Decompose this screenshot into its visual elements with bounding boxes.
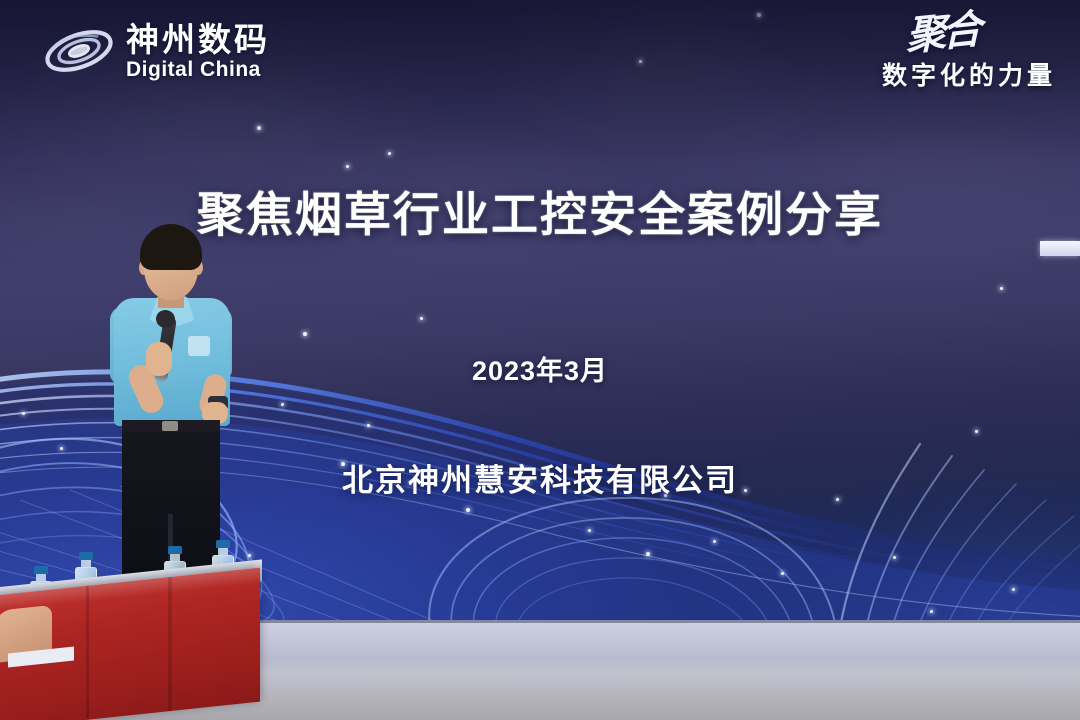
brand-logo: 神州数码 Digital China xyxy=(42,20,270,82)
sparkle-particle xyxy=(248,554,251,557)
photo-scene: 聚焦烟草行业工控安全案例分享 2023年3月 北京神州慧安科技有限公司 神州数码… xyxy=(0,0,1080,720)
sparkle-particle xyxy=(639,60,642,63)
sparkle-particle xyxy=(757,13,761,17)
brand-name-cn: 神州数码 xyxy=(126,23,270,56)
sparkle-particle xyxy=(466,508,470,512)
table-cloth-fold xyxy=(86,586,89,720)
sparkle-particle xyxy=(1000,287,1003,290)
sparkle-particle xyxy=(781,572,784,575)
presenter-hair xyxy=(140,224,202,270)
sparkle-particle xyxy=(281,403,284,406)
bottle-cap xyxy=(216,540,230,548)
sparkle-particle xyxy=(346,165,349,168)
sparkle-particle xyxy=(303,332,307,336)
digital-china-spiral-icon xyxy=(42,20,116,82)
sparkle-particle xyxy=(60,447,63,450)
sparkle-particle xyxy=(420,317,423,320)
sparkle-particle xyxy=(22,412,25,415)
event-logo: 聚合 数字化的力量 xyxy=(806,16,1056,92)
sparkle-particle xyxy=(1012,588,1015,591)
bottle-cap xyxy=(34,566,48,574)
sparkle-particle xyxy=(257,126,261,130)
sparkle-particle xyxy=(893,556,896,559)
presenter-left-hand xyxy=(146,342,172,376)
presenter-belt-buckle xyxy=(162,421,178,431)
sparkle-particle xyxy=(713,540,716,543)
bottle-neck xyxy=(218,548,228,555)
sparkle-particle xyxy=(975,430,978,433)
brand-text: 神州数码 Digital China xyxy=(126,23,270,80)
table-cloth-fold xyxy=(168,577,172,711)
sparkle-particle xyxy=(588,529,591,532)
brand-name-en: Digital China xyxy=(126,59,270,80)
presenter-chest-logo xyxy=(188,336,210,356)
bottle-cap xyxy=(168,546,182,554)
screen-edge-light-bar xyxy=(1040,241,1080,256)
sparkle-particle xyxy=(388,152,391,155)
sparkle-particle xyxy=(646,552,650,556)
sparkle-particle xyxy=(930,610,933,613)
bottle-cap xyxy=(79,552,93,560)
bottle-neck xyxy=(170,554,180,561)
sparkle-particle xyxy=(367,424,370,427)
bottle-neck xyxy=(81,560,91,567)
bottle-neck xyxy=(36,574,46,581)
